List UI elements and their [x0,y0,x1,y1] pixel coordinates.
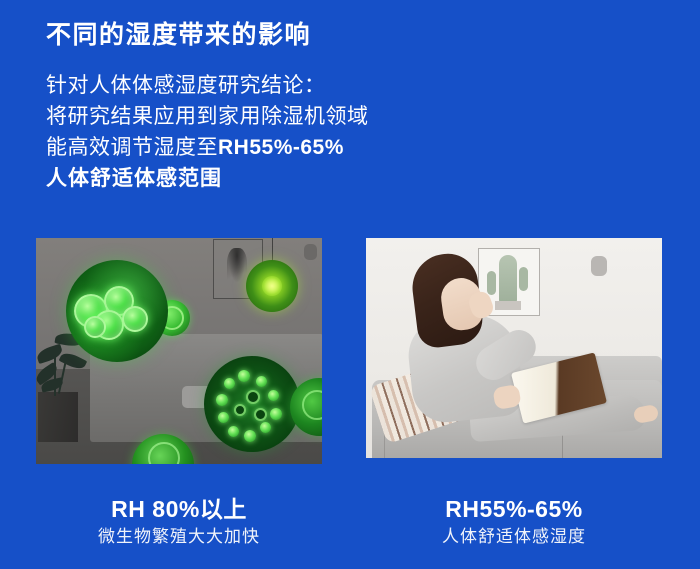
bright-living-room-illustration [366,238,662,458]
caption-row: RH 80%以上 微生物繁殖大大加快 RH55%-65% 人体舒适体感湿度 [0,494,700,569]
heading-area: 不同的湿度带来的影响 针对人体体感湿度研究结论： 将研究结果应用到家用除湿机领域… [46,18,646,194]
microbe-large-dark [204,356,300,452]
dim-living-room-illustration [36,238,322,464]
intro-paragraph: 针对人体体感湿度研究结论： 将研究结果应用到家用除湿机领域 能高效调节湿度至RH… [46,70,646,194]
cactus-icon [499,255,517,303]
photo-comfort-humidity [366,238,662,458]
caption-left-headline: RH 80%以上 [36,494,322,524]
intro-line-1: 针对人体体感湿度研究结论： [46,70,646,101]
cactus-arm [487,271,496,295]
comparison-photo-row [0,238,700,460]
intro-line-3: 能高效调节湿度至RH55%-65% [46,132,646,163]
wall-speaker-icon [591,256,607,276]
caption-right-subtext: 人体舒适体感湿度 [366,524,662,550]
caption-comfort-humidity: RH55%-65% 人体舒适体感湿度 [366,494,662,550]
intro-line-2: 将研究结果应用到家用除湿机领域 [46,101,646,132]
wall-speaker-icon [304,244,317,260]
microbe-yellow-green [246,260,298,312]
intro-line-3-prefix: 能高效调节湿度至 [46,136,218,159]
intro-line-4: 人体舒适体感范围 [46,163,646,194]
humidity-infographic-poster: 不同的湿度带来的影响 针对人体体感湿度研究结论： 将研究结果应用到家用除湿机领域… [0,0,700,569]
caption-right-headline: RH55%-65% [366,494,662,524]
plant-pot [38,392,78,442]
cactus-pot [495,301,521,310]
cactus-arm [519,267,528,291]
caption-high-humidity: RH 80%以上 微生物繁殖大大加快 [36,494,322,550]
microbe-large-glowing [66,260,168,362]
humidity-range-value: RH55%-65% [218,136,344,159]
page-title: 不同的湿度带来的影响 [46,18,646,52]
photo-high-humidity [36,238,322,464]
caption-left-subtext: 微生物繁殖大大加快 [36,524,322,550]
